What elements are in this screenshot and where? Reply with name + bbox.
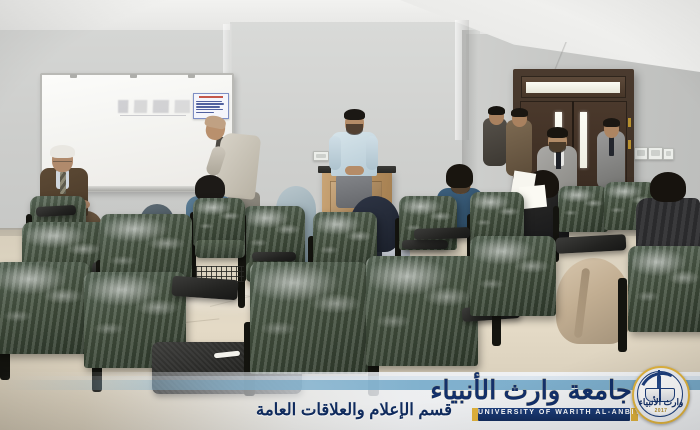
department-name-arabic: قسم الإعلام والعلاقات العامة xyxy=(256,400,452,420)
branding-banner: قسم الإعلام والعلاقات العامة جامعة وارث … xyxy=(0,372,700,430)
door-hinge xyxy=(628,140,631,149)
wall-switch-plate xyxy=(313,151,329,161)
emblem-text-arabic: وارث الأنبياء xyxy=(634,398,688,407)
university-emblem: وارث الأنبياء 2017 xyxy=(632,366,690,424)
university-name-english: UNIVERSITY OF WARITH AL-ANBIYAA xyxy=(478,409,630,416)
classroom-photo: قسم الإعلام والعلاقات العامة جامعة وارث … xyxy=(0,0,700,430)
door-glass-panel xyxy=(580,112,587,168)
wall-switch-plate xyxy=(663,148,674,160)
tablet-arm-desk xyxy=(414,227,470,240)
university-name-bar: UNIVERSITY OF WARITH AL-ANBIYAA xyxy=(478,408,630,421)
wall-switch-plate xyxy=(634,147,648,160)
wall-switch-plate xyxy=(648,147,663,160)
emblem-year: 2017 xyxy=(634,408,688,414)
university-logo: جامعة وارث الأنبياء UNIVERSITY OF WARITH… xyxy=(458,374,694,426)
university-name-arabic: جامعة وارث الأنبياء xyxy=(430,375,632,406)
whiteboard-faint-line xyxy=(120,115,186,116)
door-hinge xyxy=(628,118,631,127)
whiteboard-faint-writing xyxy=(118,100,190,113)
transom-glass xyxy=(526,82,620,93)
